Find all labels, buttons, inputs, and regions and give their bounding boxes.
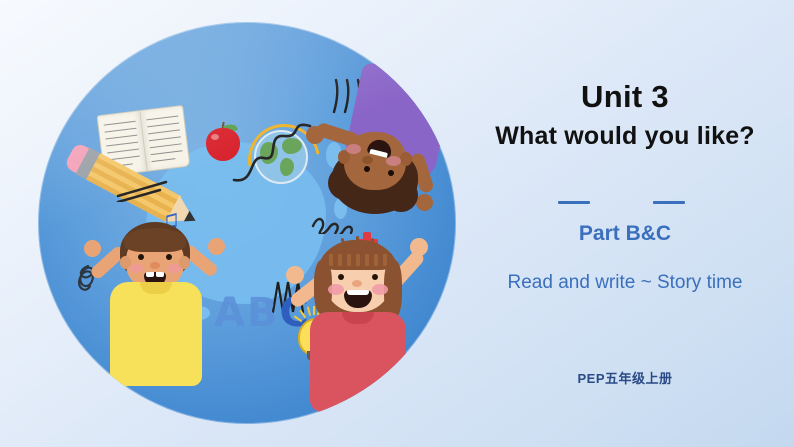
divider-dashes	[456, 198, 794, 208]
child-red-shirt	[286, 236, 436, 418]
divider-dash-right	[653, 201, 685, 204]
child-yellow-shirt	[84, 220, 224, 400]
child-purple-shirt	[304, 70, 454, 240]
section-label-part: Part B&C	[456, 222, 794, 246]
page-title-unit: Unit 3	[456, 79, 794, 115]
circular-classroom-illustration: ♫ ♪ ABC %	[38, 22, 456, 424]
book-page-right	[139, 105, 190, 172]
section-subtitle: Read and write ~ Story time	[456, 272, 794, 294]
divider-dash-left	[558, 201, 590, 204]
textbook-footer-label: PEP五年级上册	[456, 368, 794, 387]
page-title-question: What would you like?	[456, 122, 794, 151]
slide-canvas: ♫ ♪ ABC %	[0, 0, 794, 447]
text-column: Unit 3 What would you like? Part B&C Rea…	[456, 0, 794, 447]
motion-lines	[116, 178, 170, 202]
